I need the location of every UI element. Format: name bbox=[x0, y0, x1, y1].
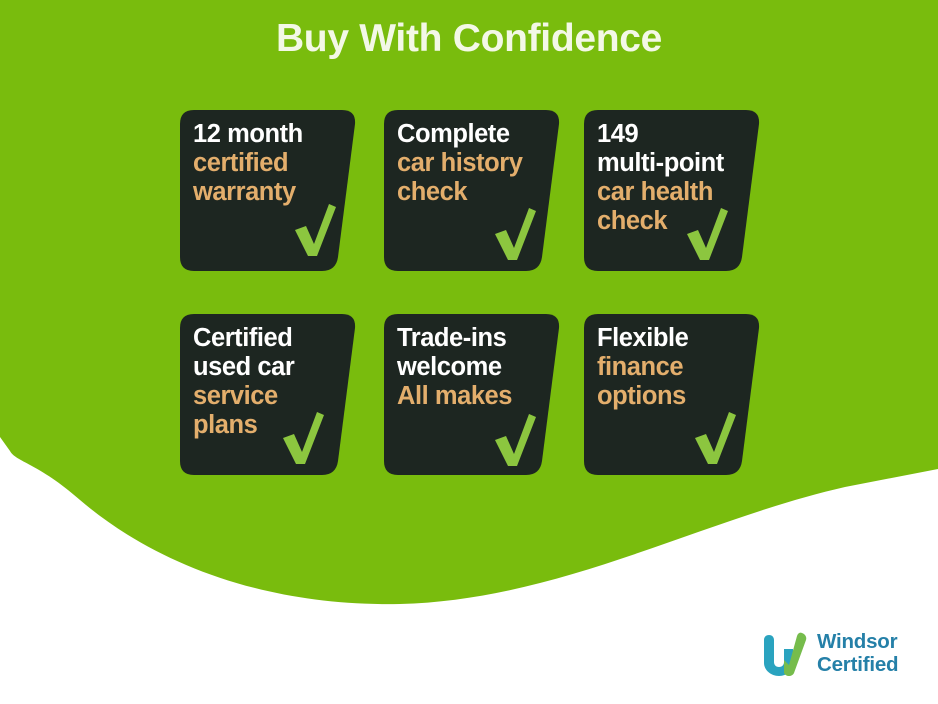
check-icon bbox=[280, 410, 326, 466]
check-icon bbox=[684, 206, 730, 262]
check-icon bbox=[492, 206, 538, 262]
card-line-white: used car bbox=[193, 353, 345, 382]
buy-with-confidence-banner: Buy With Confidence 12 month certified w… bbox=[0, 0, 938, 704]
card-line-tan: check bbox=[397, 178, 549, 207]
card-line-tan: service bbox=[193, 382, 345, 411]
card-line-tan: finance bbox=[597, 353, 749, 382]
card-line-white: Complete bbox=[397, 120, 549, 149]
card-line-white: multi-point bbox=[597, 149, 749, 178]
feature-card-warranty: 12 month certified warranty bbox=[180, 110, 356, 271]
check-icon bbox=[292, 202, 338, 258]
page-title: Buy With Confidence bbox=[0, 16, 938, 62]
card-line-white: 12 month bbox=[193, 120, 345, 149]
feature-card-service-plans: Certified used car service plans bbox=[180, 314, 356, 475]
feature-card-history-check: Complete car history check bbox=[384, 110, 560, 271]
feature-card-trade-ins: Trade-ins welcome All makes bbox=[384, 314, 560, 475]
card-line-tan: options bbox=[597, 382, 749, 411]
card-copy: 12 month certified warranty bbox=[193, 120, 345, 207]
feature-card-health-check: 149 multi-point car health check bbox=[584, 110, 760, 271]
logo-line-windsor: Windsor bbox=[817, 631, 898, 654]
card-line-white: 149 bbox=[597, 120, 749, 149]
feature-card-grid: 12 month certified warranty Complete car… bbox=[180, 110, 756, 475]
card-copy: Complete car history check bbox=[397, 120, 549, 207]
card-line-white: Certified bbox=[193, 324, 345, 353]
feature-card-finance: Flexible finance options bbox=[584, 314, 760, 475]
logo-wordmark: Windsor Certified bbox=[817, 631, 898, 677]
card-line-white: welcome bbox=[397, 353, 549, 382]
check-icon bbox=[492, 412, 538, 468]
card-line-tan: All makes bbox=[397, 382, 549, 411]
card-line-white: Trade-ins bbox=[397, 324, 549, 353]
card-line-tan: car health bbox=[597, 178, 749, 207]
windsor-certified-logo: Windsor Certified bbox=[762, 626, 928, 682]
logo-line-certified: Certified bbox=[817, 654, 898, 677]
card-line-white: Flexible bbox=[597, 324, 749, 353]
card-line-tan: certified bbox=[193, 149, 345, 178]
card-copy: Trade-ins welcome All makes bbox=[397, 324, 549, 411]
windsor-w-mark-icon bbox=[762, 632, 808, 677]
check-icon bbox=[692, 410, 738, 466]
card-copy: Flexible finance options bbox=[597, 324, 749, 411]
card-line-tan: car history bbox=[397, 149, 549, 178]
